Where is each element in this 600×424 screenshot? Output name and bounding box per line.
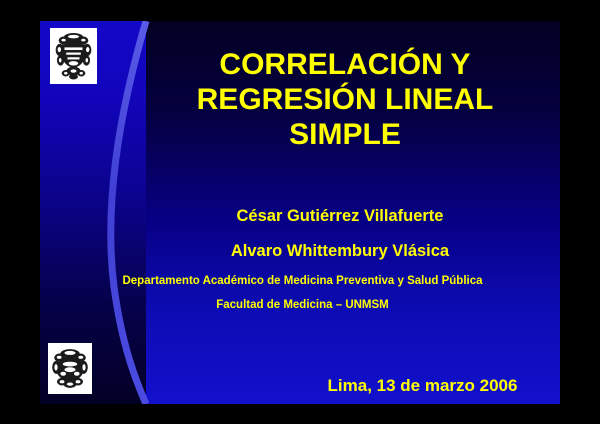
- date-location: Lima, 13 de marzo 2006: [300, 375, 545, 397]
- author-name-1: César Gutiérrez Villafuerte: [130, 199, 550, 234]
- slide-canvas: CORRELACIÓN Y REGRESIÓN LINEAL SIMPLE Cé…: [40, 21, 560, 404]
- affiliation: Departamento Académico de Medicina Preve…: [50, 269, 555, 317]
- slide-content: CORRELACIÓN Y REGRESIÓN LINEAL SIMPLE Cé…: [40, 21, 560, 404]
- title-line-2: REGRESIÓN LINEAL: [145, 82, 545, 117]
- affiliation-department: Departamento Académico de Medicina Preve…: [50, 269, 555, 293]
- slide-frame: CORRELACIÓN Y REGRESIÓN LINEAL SIMPLE Cé…: [0, 0, 600, 424]
- date-text: Lima, 13 de marzo 2006: [300, 375, 545, 397]
- title-line-1: CORRELACIÓN Y: [145, 47, 545, 82]
- affiliation-faculty: Facultad de Medicina – UNMSM: [50, 293, 555, 317]
- author-name-2: Alvaro Whittembury Vlásica: [130, 234, 550, 269]
- title-line-3: SIMPLE: [145, 117, 545, 152]
- slide-title: CORRELACIÓN Y REGRESIÓN LINEAL SIMPLE: [145, 47, 545, 152]
- author-list: César Gutiérrez Villafuerte Alvaro Whitt…: [130, 199, 550, 269]
